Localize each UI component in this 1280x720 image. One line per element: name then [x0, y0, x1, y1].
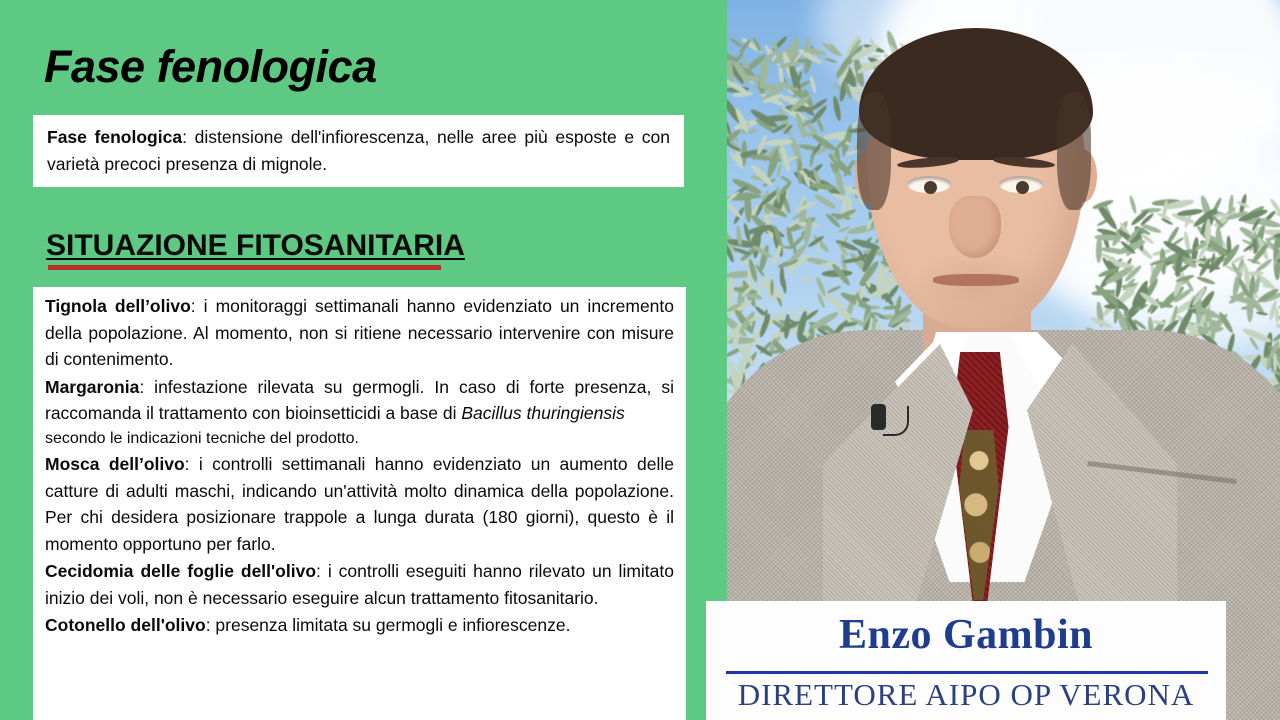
- entry-tignola: Tignola dell’olivo: i monitoraggi settim…: [45, 293, 674, 373]
- phenological-phase-card: Fase fenologica: distensione dell'infior…: [33, 115, 684, 187]
- entry-cecidomia-label: Cecidomia delle foglie dell'olivo: [45, 561, 316, 581]
- entry-margaronia-species: Bacillus thuringiensis: [461, 403, 624, 423]
- hair-side-left: [857, 92, 891, 210]
- section-heading-red-rule: [48, 265, 441, 270]
- phytosanitary-situation-card: Tignola dell’olivo: i monitoraggi settim…: [33, 287, 686, 720]
- page-title: Fase fenologica: [44, 44, 377, 89]
- nose: [949, 196, 1001, 258]
- hair-side-right: [1057, 92, 1091, 210]
- microphone-wire: [883, 406, 909, 436]
- entry-cotonello-text: : presenza limitata su germogli e infior…: [206, 615, 571, 635]
- entry-cotonello: Cotonello dell'olivo: presenza limitata …: [45, 612, 674, 639]
- entry-margaronia-note: secondo le indicazioni tecniche del prod…: [45, 428, 674, 450]
- presenter-name: Enzo Gambin: [706, 611, 1226, 659]
- lower-third-divider: [726, 671, 1208, 674]
- lower-third-banner: Enzo Gambin DIRETTORE AIPO OP VERONA: [706, 601, 1226, 720]
- presenter-role: DIRETTORE AIPO OP VERONA: [706, 677, 1226, 713]
- slide-panel: Fase fenologica Fase fenologica: distens…: [0, 0, 727, 720]
- video-slide-frame: Fase fenologica Fase fenologica: distens…: [0, 0, 1280, 720]
- chin-shadow: [907, 252, 1047, 322]
- entry-mosca: Mosca dell’olivo: i controlli settimanal…: [45, 451, 674, 557]
- section-heading: SITUAZIONE FITOSANITARIA: [46, 229, 465, 263]
- phenological-phase-paragraph: Fase fenologica: distensione dell'infior…: [47, 124, 670, 177]
- entry-margaronia-label: Margaronia: [45, 377, 139, 397]
- pupil-left: [924, 181, 937, 194]
- entry-tignola-label: Tignola dell’olivo: [45, 296, 191, 316]
- entry-cecidomia: Cecidomia delle foglie dell'olivo: i con…: [45, 558, 674, 611]
- entry-cotonello-label: Cotonello dell'olivo: [45, 615, 206, 635]
- pupil-right: [1016, 181, 1029, 194]
- phenological-phase-label: Fase fenologica: [47, 127, 182, 147]
- entry-mosca-label: Mosca dell’olivo: [45, 454, 185, 474]
- mouth: [933, 274, 1019, 286]
- entry-margaronia: Margaronia: infestazione rilevata su ger…: [45, 374, 674, 427]
